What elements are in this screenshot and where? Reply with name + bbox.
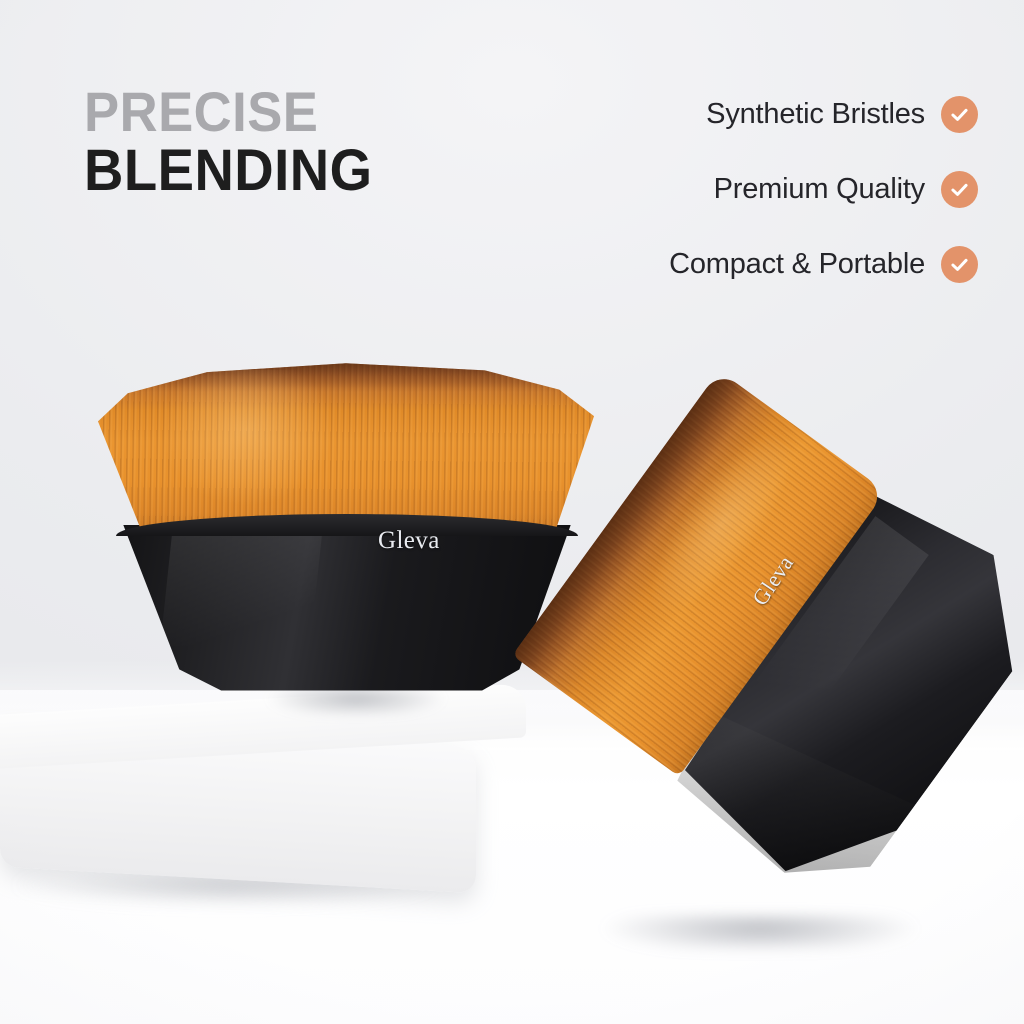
- check-icon: [941, 96, 978, 133]
- brand-logo-upright: Gleva: [378, 527, 440, 555]
- feature-label: Synthetic Bristles: [706, 98, 925, 131]
- headline-line-blending: BLENDING: [84, 144, 372, 197]
- product-scene: PRECISE BLENDING Synthetic Bristles Prem…: [0, 0, 1024, 1024]
- check-icon: [941, 246, 978, 283]
- feature-item-compact-portable: Compact & Portable: [669, 246, 978, 283]
- feature-list: Synthetic Bristles Premium Quality Compa…: [669, 96, 978, 283]
- brush-upright-handle-highlight: [160, 536, 322, 646]
- brush-upright-bristle-sheen: [166, 370, 366, 520]
- feature-label: Premium Quality: [714, 173, 925, 206]
- brush-tilted: [455, 415, 985, 960]
- headline-block: PRECISE BLENDING: [84, 86, 391, 197]
- feature-item-premium-quality: Premium Quality: [669, 171, 978, 208]
- check-icon: [941, 171, 978, 208]
- feature-item-synthetic-bristles: Synthetic Bristles: [669, 96, 978, 133]
- headline-line-precise: PRECISE: [84, 86, 372, 138]
- feature-label: Compact & Portable: [669, 248, 925, 281]
